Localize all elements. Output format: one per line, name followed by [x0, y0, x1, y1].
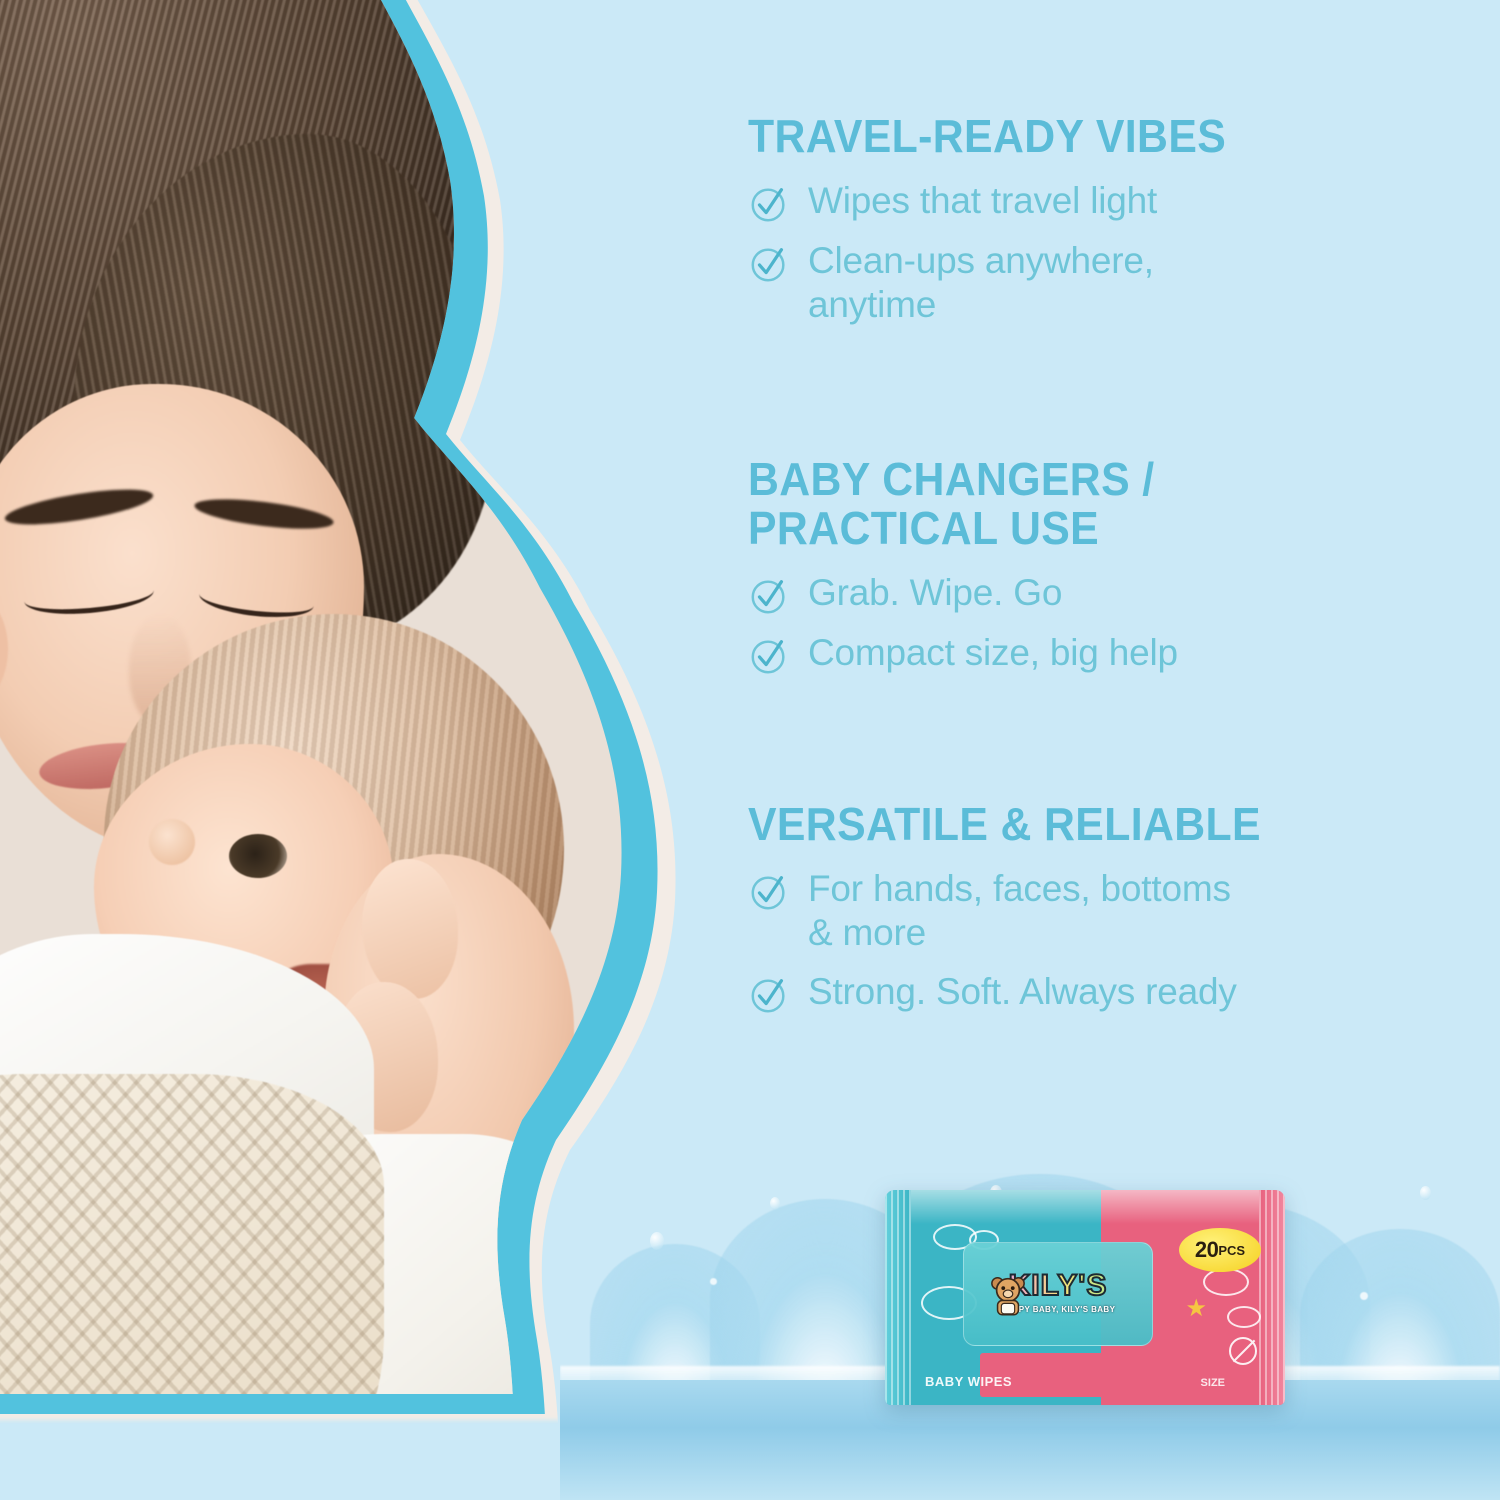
feature-section-travel: TRAVEL-READY VIBES Wipes that travel lig…	[748, 112, 1438, 342]
water-droplet	[650, 1232, 664, 1250]
bullet-list: For hands, faces, bottoms & more Strong.…	[748, 867, 1448, 1016]
section-heading: BABY CHANGERS / PRACTICAL USE	[748, 455, 1390, 553]
section-heading: TRAVEL-READY VIBES	[748, 112, 1390, 161]
infographic-page: ★ KILY'S HAPPY BABY, KILY'S BABY	[0, 0, 1500, 1500]
knit-cardigan	[0, 1074, 384, 1394]
bullet-list: Grab. Wipe. Go Compact size, big help	[748, 571, 1438, 677]
bullet-text: Wipes that travel light	[808, 179, 1157, 223]
bullet-item: Clean-ups anywhere, anytime	[748, 239, 1438, 328]
bullet-text: Clean-ups anywhere, anytime	[808, 239, 1154, 328]
water-spray	[710, 1278, 717, 1285]
baby-nose	[149, 819, 195, 865]
bullet-text: Strong. Soft. Always ready	[808, 970, 1237, 1014]
bullet-text: Grab. Wipe. Go	[808, 571, 1062, 615]
feature-section-practical: BABY CHANGERS / PRACTICAL USE Grab. Wipe…	[748, 455, 1438, 691]
bullet-item: Grab. Wipe. Go	[748, 571, 1438, 617]
baby-eye	[229, 834, 287, 878]
bullet-text: For hands, faces, bottoms & more	[808, 867, 1231, 956]
check-circle-icon	[748, 575, 790, 617]
check-circle-icon	[748, 243, 790, 285]
bullet-item: Wipes that travel light	[748, 179, 1438, 225]
bullet-text: Compact size, big help	[808, 631, 1178, 675]
check-circle-icon	[748, 974, 790, 1016]
bullet-item: Strong. Soft. Always ready	[748, 970, 1448, 1016]
feature-list-column: TRAVEL-READY VIBES Wipes that travel lig…	[742, 0, 1442, 1500]
hand-finger-1	[362, 859, 458, 999]
bullet-item: For hands, faces, bottoms & more	[748, 867, 1448, 956]
check-circle-icon	[748, 871, 790, 913]
check-circle-icon	[748, 183, 790, 225]
check-circle-icon	[748, 635, 790, 677]
bullet-item: Compact size, big help	[748, 631, 1438, 677]
bullet-list: Wipes that travel light Clean-ups anywhe…	[748, 179, 1438, 328]
feature-section-versatile: VERSATILE & RELIABLE For hands, faces, b…	[748, 800, 1448, 1030]
section-heading: VERSATILE & RELIABLE	[748, 800, 1399, 849]
